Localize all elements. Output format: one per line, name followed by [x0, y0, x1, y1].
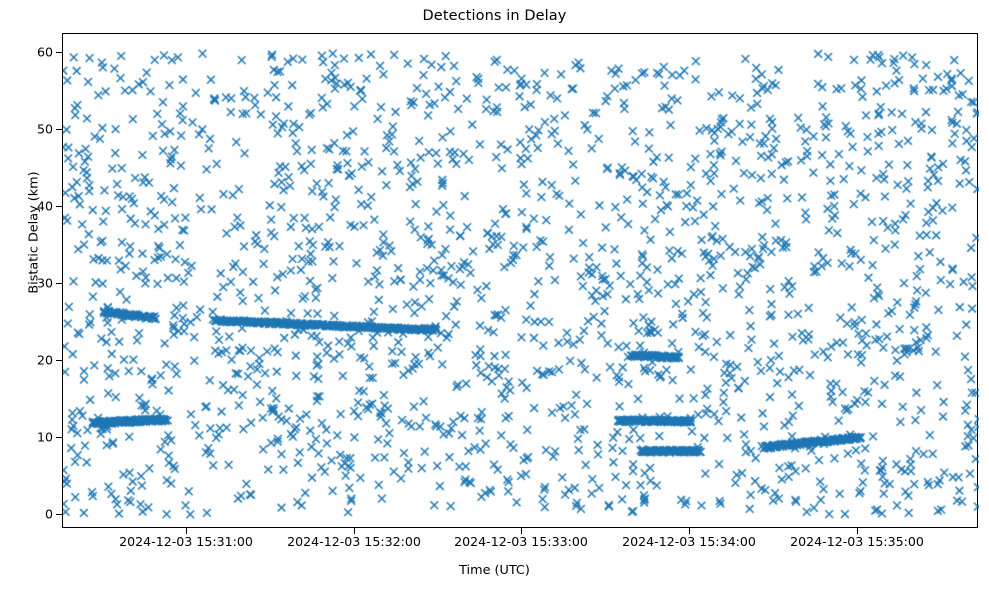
y-tick-label: 50: [37, 122, 53, 137]
x-tick-label: 2024-12-03 15:35:00: [790, 534, 924, 549]
y-tick-label: 20: [37, 353, 53, 368]
x-tick-label: 2024-12-03 15:34:00: [622, 534, 756, 549]
y-tick-label: 0: [45, 507, 53, 522]
y-axis-tick-labels: 0102030405060: [0, 0, 53, 590]
scatter-plot-canvas: [63, 34, 979, 529]
x-tick-label: 2024-12-03 15:32:00: [287, 534, 421, 549]
y-tick-label: 10: [37, 430, 53, 445]
y-tick-label: 60: [37, 45, 53, 60]
x-axis-label: Time (UTC): [0, 563, 989, 578]
y-tick-label: 40: [37, 199, 53, 214]
y-tick-label: 30: [37, 276, 53, 291]
plot-area: [62, 33, 978, 528]
page-title: Detections in Delay: [0, 8, 989, 24]
figure-canvas: Detections in Delay Bistatic Delay (km) …: [0, 0, 989, 590]
x-tick-label: 2024-12-03 15:31:00: [119, 534, 253, 549]
x-tick-label: 2024-12-03 15:33:00: [454, 534, 588, 549]
